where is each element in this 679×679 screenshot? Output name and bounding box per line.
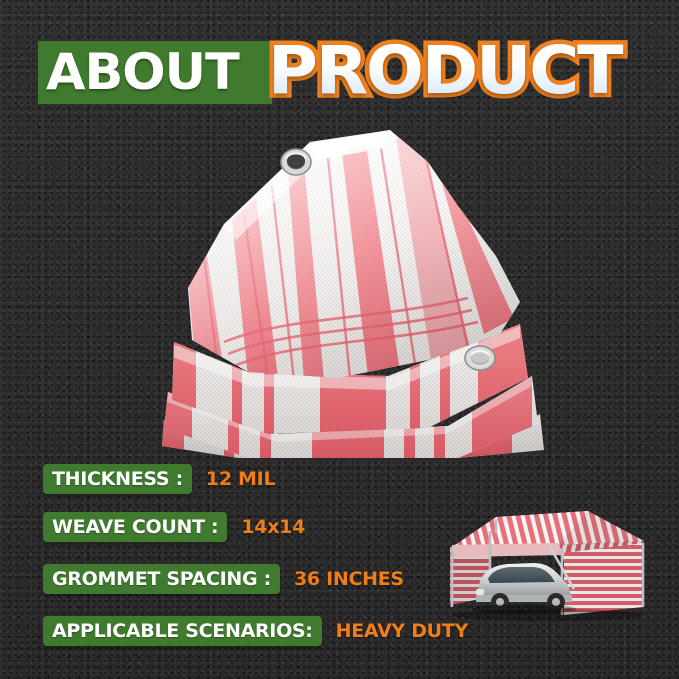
spec-label-badge: GROMMET SPACING :: [43, 564, 280, 594]
title-product-text: PRODUCT: [268, 36, 621, 106]
spec-value: 14x14: [241, 518, 305, 537]
spec-label-badge: THICKNESS :: [43, 464, 192, 494]
spec-row: WEAVE COUNT : 14x14: [43, 512, 305, 542]
page-title: ABOUT PRODUCT PRODUCT: [0, 34, 679, 110]
spec-label: GROMMET SPACING :: [52, 570, 271, 589]
spec-label: WEAVE COUNT :: [52, 518, 218, 537]
carport-application-image: [438, 503, 658, 623]
spec-row: GROMMET SPACING : 36 INCHES: [43, 564, 404, 594]
spec-label: THICKNESS :: [52, 470, 183, 489]
infographic-canvas: ABOUT PRODUCT PRODUCT: [0, 0, 679, 679]
spec-value: 12 MIL: [206, 470, 275, 489]
spec-value: HEAVY DUTY: [336, 622, 468, 641]
spec-label-badge: APPLICABLE SCENARIOS:: [43, 616, 322, 646]
grommet-top: [281, 149, 311, 175]
spec-row: THICKNESS : 12 MIL: [43, 464, 275, 494]
spec-value: 36 INCHES: [294, 570, 404, 589]
spec-row: APPLICABLE SCENARIOS: HEAVY DUTY: [43, 616, 468, 646]
grommet-right: [465, 346, 495, 370]
spec-label: APPLICABLE SCENARIOS:: [52, 622, 313, 641]
tarp-product-image: [128, 128, 552, 458]
title-about-text: ABOUT: [46, 46, 239, 98]
spec-label-badge: WEAVE COUNT :: [43, 512, 227, 542]
